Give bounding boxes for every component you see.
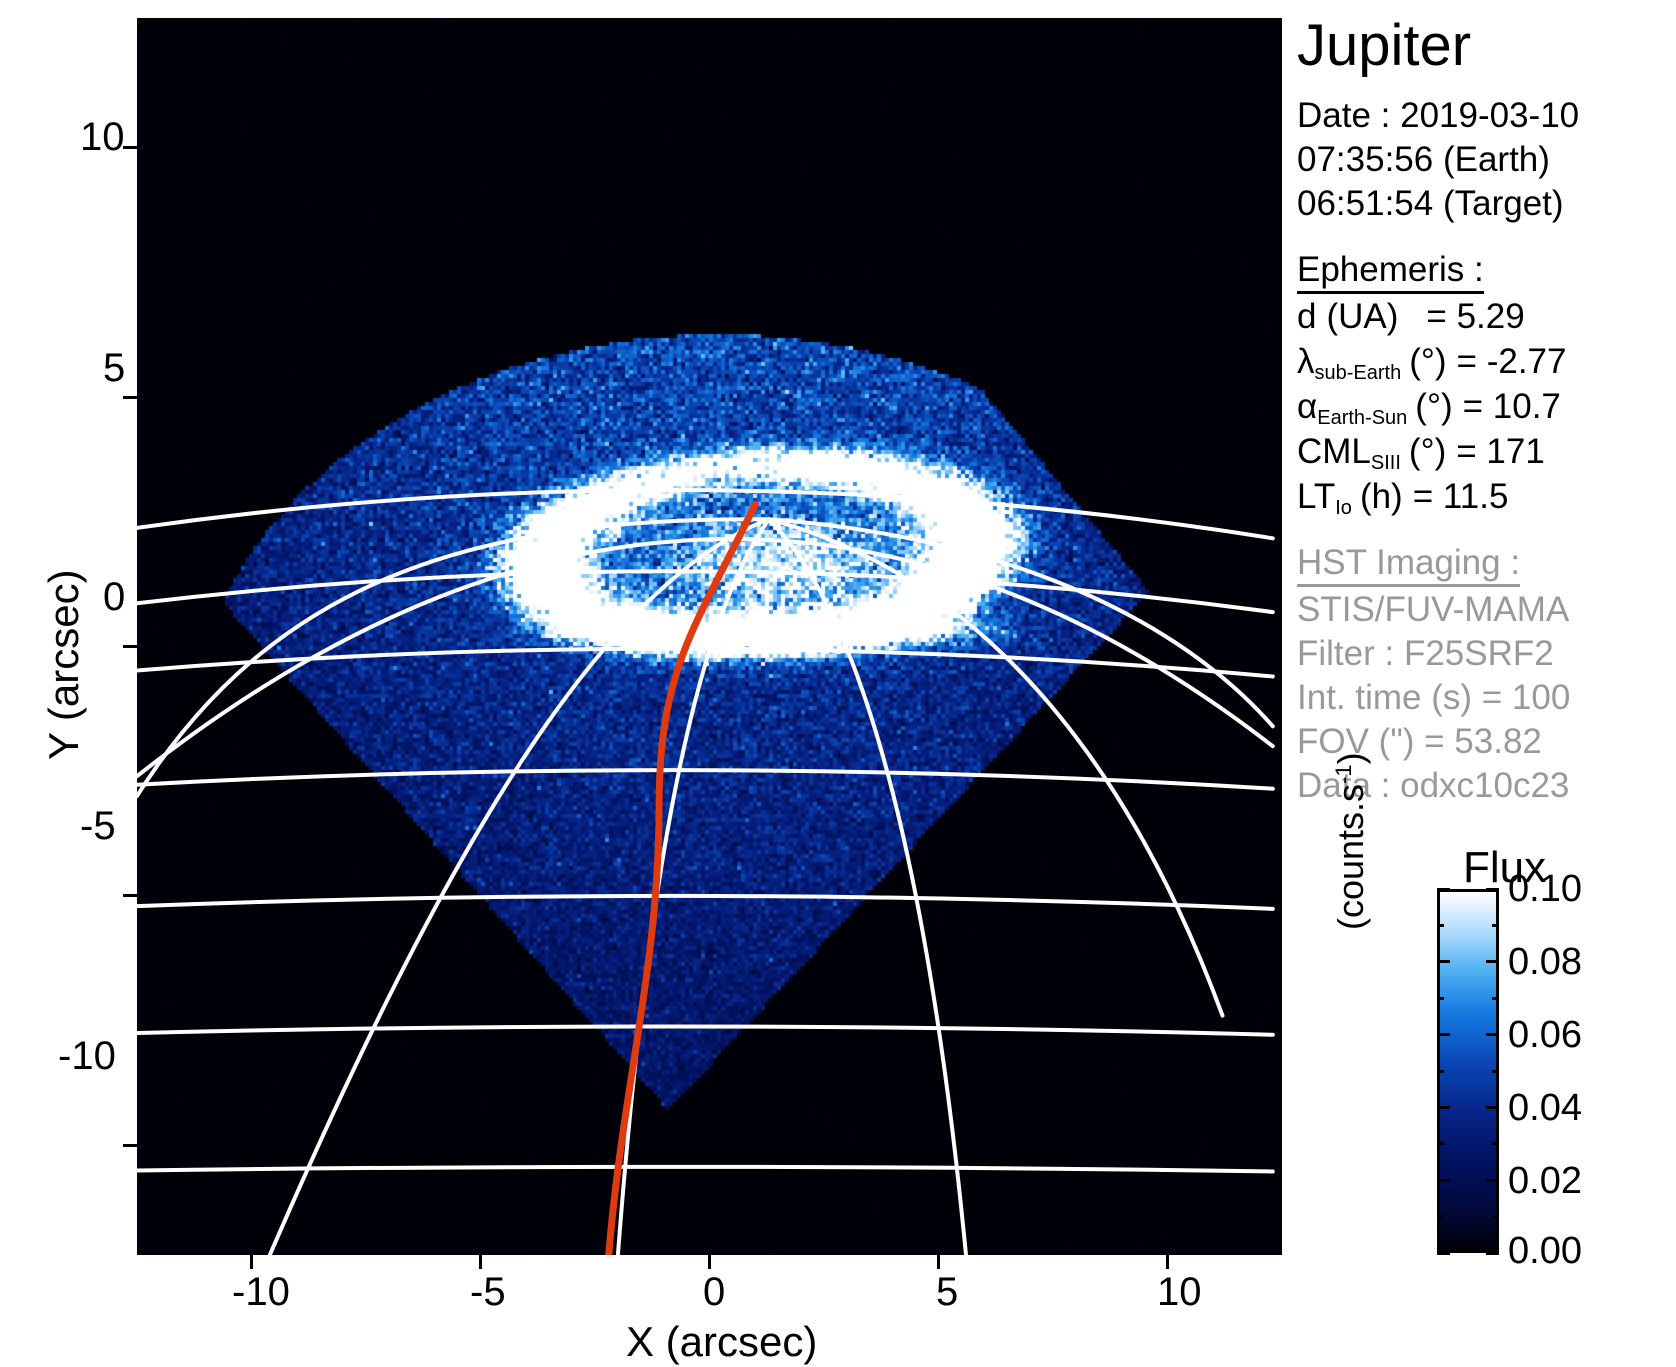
- ephemeris-value: = 10.7: [1463, 387, 1561, 426]
- flux-colorbar: [1437, 889, 1499, 1253]
- colorbar-tick-mark: [1437, 888, 1450, 891]
- colorbar-tick-mark: [1486, 1033, 1499, 1036]
- ephemeris-row-sub-earth-latitude: λ sub-Earth (°) = -2.77: [1297, 342, 1566, 387]
- colorbar-tick-label: 0.10: [1508, 870, 1582, 908]
- colorbar-tick-mark: [1486, 960, 1499, 963]
- colorbar-tick-mark: [1486, 888, 1499, 891]
- x-tick-label: 0: [703, 1272, 725, 1312]
- hst-imaging-header: HST Imaging :: [1297, 543, 1520, 587]
- hst-instrument: STIS/FUV-MAMA: [1297, 590, 1569, 629]
- colorbar-tick-mark: [1486, 1106, 1499, 1109]
- colorbar-tick-label: 0.06: [1508, 1016, 1582, 1054]
- grid-line: [137, 896, 1273, 909]
- colorbar-tick-label: 0.02: [1508, 1162, 1582, 1200]
- y-tick-mark: [123, 894, 137, 897]
- observation-time-earth: 07:35:56 (Earth): [1297, 140, 1550, 179]
- grid-line: [769, 519, 1223, 1015]
- x-tick-mark: [479, 1255, 482, 1269]
- colorbar-tick-mark: [1492, 1142, 1499, 1145]
- y-tick-mark: [123, 396, 137, 399]
- x-tick-label: 10: [1157, 1272, 1202, 1312]
- observation-time-target: 06:51:54 (Target): [1297, 184, 1564, 223]
- ephemeris-header: Ephemeris :: [1297, 250, 1484, 294]
- x-tick-mark: [708, 1255, 711, 1269]
- hst-integration-time: Int. time (s) = 100: [1297, 678, 1570, 717]
- x-tick-mark: [937, 1255, 940, 1269]
- grid-line: [137, 490, 1273, 538]
- y-axis-title: Y (arcsec): [40, 569, 88, 760]
- y-tick-label: 5: [103, 348, 125, 388]
- ephemeris-unit: (°): [1409, 432, 1446, 471]
- ephemeris-row-cml: CML SIII (°) = 171: [1297, 432, 1545, 477]
- ephemeris-row-io-local-time: LT Io (h) = 11.5: [1297, 477, 1508, 522]
- x-tick-label: -10: [232, 1272, 290, 1312]
- y-tick-label: -10: [58, 1036, 116, 1076]
- colorbar-tick-label: 0.04: [1508, 1089, 1582, 1127]
- ephemeris-unit: (UA): [1326, 297, 1398, 336]
- colorbar-tick-mark: [1486, 1252, 1499, 1255]
- hst-imaging-header-text: HST Imaging :: [1297, 543, 1520, 587]
- ephemeris-symbol: λ: [1297, 342, 1315, 381]
- colorbar-unit-close: ): [1330, 752, 1371, 764]
- colorbar-tick-label: 0.08: [1508, 943, 1582, 981]
- x-tick-label: 5: [936, 1272, 958, 1312]
- ephemeris-unit: (°): [1415, 387, 1452, 426]
- colorbar-tick-mark: [1437, 1106, 1450, 1109]
- colorbar-tick-mark: [1492, 997, 1499, 1000]
- x-tick-mark: [1166, 1255, 1169, 1269]
- colorbar-tick-mark: [1437, 960, 1450, 963]
- colorbar-tick-mark: [1437, 924, 1444, 927]
- colorbar-tick-mark: [1437, 1215, 1444, 1218]
- ephemeris-unit: (h): [1360, 477, 1403, 516]
- y-tick-mark: [123, 645, 137, 648]
- colorbar-unit-exponent: -1: [1331, 764, 1356, 784]
- ephemeris-value: = 171: [1456, 432, 1545, 471]
- y-tick-label: 0: [103, 577, 125, 617]
- ephemeris-subscript: Io: [1335, 489, 1352, 528]
- ephemeris-header-text: Ephemeris :: [1297, 250, 1484, 294]
- colorbar-unit-label: (counts.s-1): [1330, 752, 1372, 930]
- planet-grid-overlay: [137, 18, 1282, 1255]
- x-axis-title: X (arcsec): [626, 1318, 817, 1366]
- grid-line: [769, 519, 1273, 726]
- ephemeris-row-distance: d (UA) = 5.29: [1297, 297, 1525, 336]
- y-tick-label: 10: [80, 117, 125, 157]
- grid-line: [769, 519, 966, 1255]
- colorbar-tick-mark: [1437, 997, 1444, 1000]
- aurora-image-panel: [137, 18, 1282, 1255]
- colorbar-tick-mark: [1437, 1033, 1450, 1036]
- colorbar-tick-mark: [1492, 1070, 1499, 1073]
- ephemeris-value: = 5.29: [1426, 297, 1524, 336]
- observation-date: Date : 2019-03-10: [1297, 96, 1579, 135]
- ephemeris-symbol: CML: [1297, 432, 1371, 471]
- colorbar-tick-mark: [1437, 1179, 1450, 1182]
- colorbar-tick-mark: [1437, 1142, 1444, 1145]
- hst-filter: Filter : F25SRF2: [1297, 634, 1554, 673]
- ephemeris-unit: (°): [1409, 342, 1446, 381]
- ephemeris-value: = 11.5: [1413, 477, 1509, 516]
- y-tick-label: -5: [80, 806, 116, 846]
- grid-line: [137, 519, 769, 796]
- colorbar-tick-mark: [1492, 924, 1499, 927]
- x-tick-mark: [250, 1255, 253, 1269]
- colorbar-tick-label: 0.00: [1508, 1232, 1582, 1270]
- ephemeris-symbol: LT: [1297, 477, 1335, 516]
- colorbar-tick-mark: [1437, 1070, 1444, 1073]
- y-tick-mark: [123, 1144, 137, 1147]
- ephemeris-symbol: d: [1297, 297, 1316, 336]
- ephemeris-symbol: α: [1297, 387, 1317, 426]
- colorbar-tick-mark: [1437, 1252, 1450, 1255]
- x-tick-label: -5: [470, 1272, 506, 1312]
- target-name-title: Jupiter: [1297, 12, 1471, 79]
- grid-line: [137, 1026, 1273, 1034]
- colorbar-tick-mark: [1486, 1179, 1499, 1182]
- colorbar-tick-mark: [1492, 1215, 1499, 1218]
- ephemeris-row-phase-angle: α Earth-Sun (°) = 10.7: [1297, 387, 1561, 432]
- ephemeris-value: = -2.77: [1457, 342, 1567, 381]
- y-tick-mark: [123, 146, 137, 149]
- colorbar-unit-text: (counts.s: [1330, 784, 1371, 930]
